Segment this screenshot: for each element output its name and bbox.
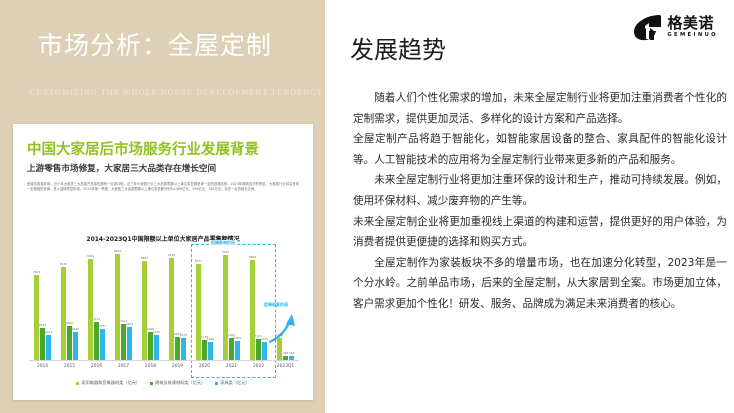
chart-bar: 2250: [154, 335, 159, 360]
legend-color-swatch: [76, 382, 79, 385]
chart-bar: 8863: [142, 261, 147, 360]
legend-color-swatch: [215, 382, 218, 385]
chart-bar-value-label: 7603: [33, 270, 40, 274]
body-paragraph: 全屋定制产品将趋于智能化，如智能家居设备的整合、家具配件的智能化设计等。人工智能…: [353, 129, 727, 170]
chart-bar-value-label: 2909: [126, 322, 133, 326]
body-paragraph: 全屋定制作为家装板块不多的增量市场，也在加速分化转型，2023年是一个分水岭。之…: [353, 253, 727, 315]
chart-bar-value-label: 8863: [141, 256, 148, 260]
chart-bar: 1962: [229, 338, 234, 360]
chart-legend-item: 家用电器和音像器材类（亿元）: [76, 380, 140, 386]
card-subtitle: 上游零售市场修复，大家居三大品类存在增长空间: [27, 162, 216, 174]
chart-bar-value-label: 2250: [153, 330, 160, 334]
body-paragraph: 未来全屋定制企业将更加重视线上渠道的构建和运营，提供更好的用户体验，为消费者提供…: [353, 212, 727, 253]
chart-bar-value-label: 9454: [114, 249, 121, 253]
chart-x-tick-label: 2018: [137, 364, 164, 369]
chart-legend: 家用电器和音像器材类（亿元）建筑及装潢材料类（亿元）家具类（亿元）: [21, 380, 305, 386]
chart-title: 2014-2023Q1中国限额以上单位大家居产品零售额情况: [21, 234, 305, 243]
covid-impact-label: 疫情影响阶段: [209, 240, 237, 246]
chart-bar-group: 827030602465: [56, 248, 83, 360]
chart-x-tick-label: 2014: [29, 364, 56, 369]
chart-bar-value-label: 1989: [276, 333, 283, 337]
chart-bar-value-label: 9139: [168, 253, 175, 257]
section-subtitle-en: CUSTOMIZING THE WHOLE HOUSE DEVELOPMENT …: [30, 88, 324, 97]
chart-bar-value-label: 8270: [60, 262, 67, 266]
slide: 市场分析：全屋定制 CUSTOMIZING THE WHOLE HOUSE DE…: [0, 0, 734, 413]
card-title: 中国大家居后市场服务行业发展背景: [27, 138, 259, 159]
chart-bar-group: 760328152273: [29, 248, 56, 360]
chart-bar: 2061: [175, 337, 180, 360]
chart-bar: 9454: [115, 254, 120, 360]
chart-bar: 1749: [202, 340, 207, 360]
chart-bar: 1687: [235, 341, 240, 360]
chart-x-tick-label: 2020: [191, 364, 218, 369]
chart-bar-value-label: 399: [283, 351, 289, 355]
chart-x-tick-label: 2016: [83, 364, 110, 369]
chart-bar-value-label: 2273: [45, 330, 52, 334]
chart-x-axis: [29, 360, 299, 361]
chart-bar: 3221: [121, 324, 126, 360]
chart-bar-group: 889019111635: [245, 248, 272, 360]
chart-x-tick-label: 2019: [164, 364, 191, 369]
chart-bar: 9340: [223, 255, 228, 360]
chart-bar-group: 857117491598: [191, 248, 218, 360]
chart-x-tick-label: 2023Q1: [272, 364, 299, 369]
chart-bar: 8571: [196, 264, 201, 360]
card-body-text: 受疫情因素影响，近十年大家居三大品类产品零售额有一定波动性，近三年大家居行业三大…: [27, 182, 299, 192]
chart-bar: 8270: [61, 267, 66, 360]
chart-bar-group: 945432212909: [110, 248, 137, 360]
chart-bar-group: 934019621687: [218, 248, 245, 360]
page-title: 发展趋势: [350, 30, 446, 65]
chart-bar: 2909: [127, 327, 132, 360]
chart-x-tick-label: 2021: [218, 364, 245, 369]
legend-label: 建筑及装潢材料类（亿元）: [155, 380, 205, 386]
chart-bar: 2498: [148, 332, 153, 360]
body-paragraph: 随着人们个性化需求的增加，未来全屋定制行业将更加注重消费者个性化的定制需求，提供…: [353, 88, 727, 129]
retail-sales-bar-chart: 2014-2023Q1中国限额以上单位大家居产品零售额情况 疫情影响阶段 疫情修…: [21, 234, 305, 392]
chart-x-tick-label: 2015: [56, 364, 83, 369]
chart-bar: 9004: [88, 259, 93, 360]
chart-bar-group: 886324982250: [137, 248, 164, 360]
chart-bar-group: 900433722781: [83, 248, 110, 360]
background-card: 中国大家居后市场服务行业发展背景 上游零售市场修复，大家居三大品类存在增长空间 …: [13, 124, 313, 400]
chart-bar-value-label: 9340: [222, 250, 229, 254]
chart-x-tick-label: 2022: [245, 364, 272, 369]
chart-bar: 8890: [250, 260, 255, 360]
chart-bar: 2273: [46, 335, 51, 360]
brand-logo: 格美诺 GEMEINUO: [633, 14, 718, 41]
chart-bar-value-label: 2781: [99, 324, 106, 328]
chart-bar: 1989: [277, 338, 282, 360]
section-title: 市场分析：全屋定制: [38, 26, 272, 62]
chart-bar-value-label: 1635: [261, 337, 268, 341]
chart-x-tick-label: 2017: [110, 364, 137, 369]
chart-bar-value-label: 2815: [39, 323, 46, 327]
chart-bar-value-label: 3372: [93, 317, 100, 321]
chart-bar: 1635: [262, 342, 267, 360]
chart-bar-value-label: 9004: [87, 254, 94, 258]
chart-bar-value-label: 2465: [72, 327, 79, 331]
chart-bar: 2781: [100, 329, 105, 360]
legend-color-swatch: [150, 382, 153, 385]
chart-plot-area: 7603281522738270306024659004337227819454…: [29, 248, 299, 360]
chart-bar-value-label: 8571: [195, 259, 202, 263]
chart-bar-value-label: 8890: [249, 255, 256, 259]
logo-latin-name: GEMEINUO: [667, 33, 718, 38]
chart-bar-value-label: 1598: [207, 337, 214, 341]
chart-bar: 9139: [169, 258, 174, 360]
chart-bar: 3372: [94, 322, 99, 360]
legend-label: 家具类（亿元）: [220, 380, 249, 386]
chart-bar-value-label: 3060: [66, 321, 73, 325]
left-panel: 市场分析：全屋定制 CUSTOMIZING THE WHOLE HOUSE DE…: [0, 0, 325, 413]
right-panel: 发展趋势 格美诺 GEMEINUO 随着人们个性化需求的增加，未来全屋定制行业将…: [325, 0, 734, 413]
chart-bar-value-label: 364: [289, 351, 295, 355]
chart-bar-group: 1989399364: [272, 248, 299, 360]
chart-bar: 7603: [34, 275, 39, 360]
body-copy: 随着人们个性化需求的增加，未来全屋定制行业将更加注重消费者个性化的定制需求，提供…: [353, 88, 727, 315]
logo-chinese-name: 格美诺: [667, 16, 718, 31]
chart-legend-item: 家具类（亿元）: [215, 380, 249, 386]
chart-bar-group: 913920611975: [164, 248, 191, 360]
chart-legend-item: 建筑及装潢材料类（亿元）: [150, 380, 205, 386]
chart-bar: 1975: [181, 338, 186, 360]
chart-bar: 2465: [73, 332, 78, 360]
body-paragraph: 未来全屋定制行业将更加注重环保的设计和生产，推动可持续发展。例如，使用环保材料、…: [353, 170, 727, 211]
gemeinuo-logo-icon: [633, 14, 663, 41]
chart-bar-value-label: 1975: [180, 333, 187, 337]
chart-bar: 1911: [256, 339, 261, 360]
chart-bar: 1598: [208, 342, 213, 360]
chart-bar-value-label: 1687: [234, 336, 241, 340]
legend-label: 家用电器和音像器材类（亿元）: [81, 380, 140, 386]
